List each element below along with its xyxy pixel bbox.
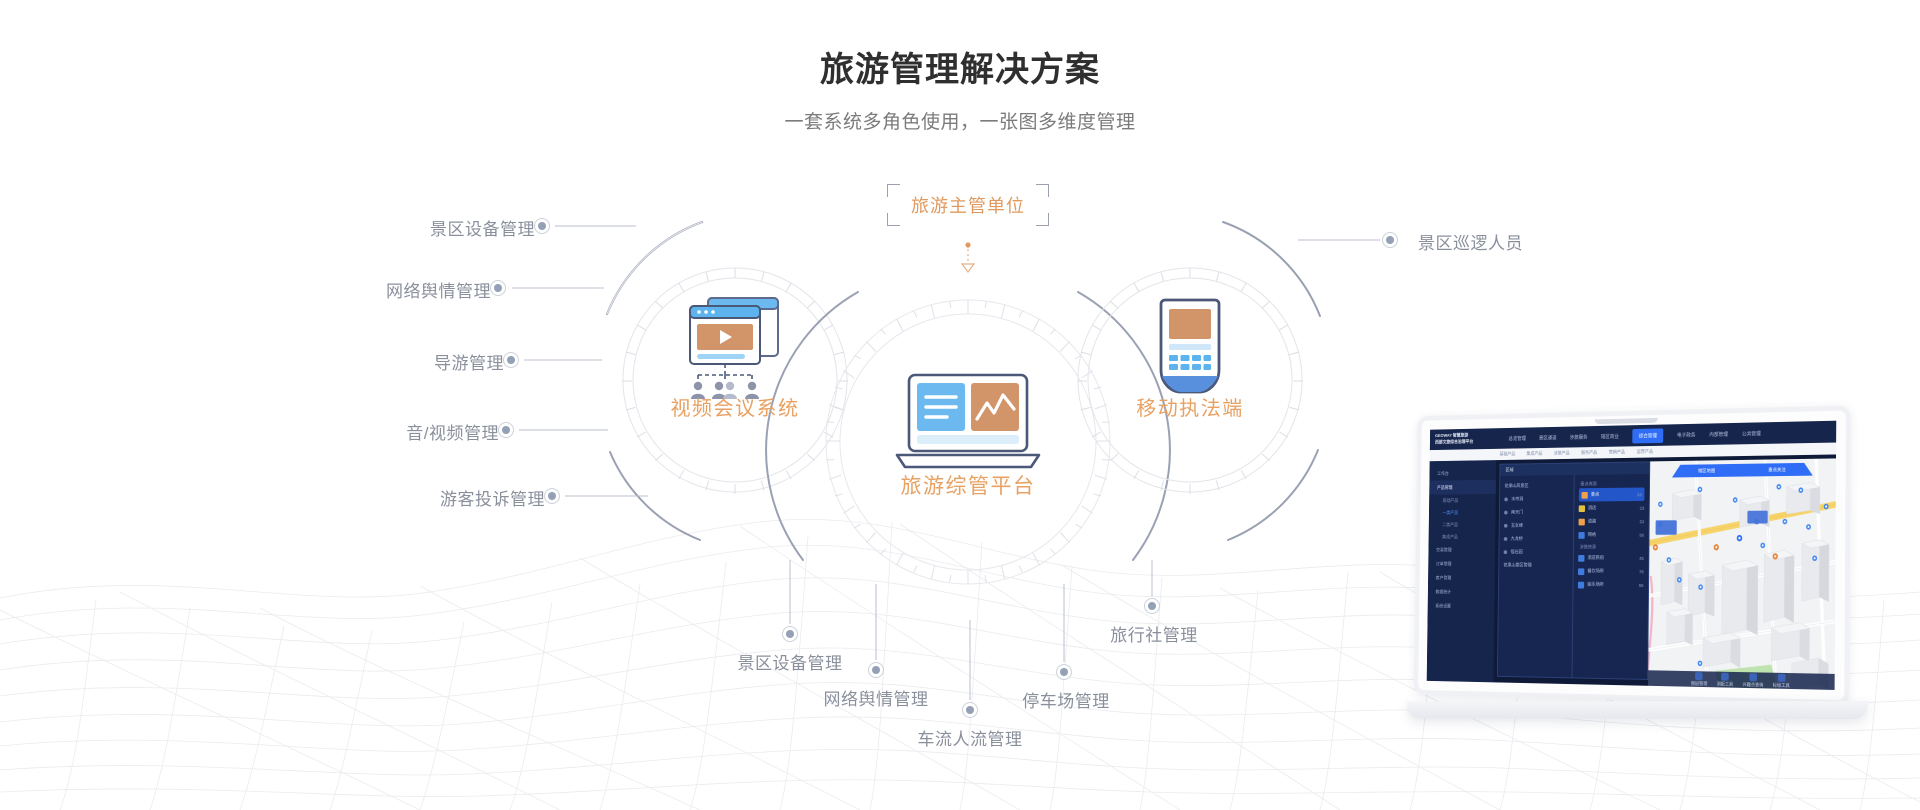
- bottom-label-parking-mgmt[interactable]: 停车场管理: [1006, 687, 1126, 712]
- dashboard-map[interactable]: 辖区地图 重点关注: [1648, 458, 1836, 690]
- menu-item-6[interactable]: 内部管理: [1709, 430, 1728, 437]
- sub-tab-1[interactable]: 集成产品: [1527, 451, 1543, 457]
- map-tool-label-1: 测距工具: [1717, 681, 1734, 687]
- legend2-row-2[interactable]: 娱乐场所 55: [1577, 578, 1643, 592]
- left-label-audio-video-mgmt[interactable]: 音/视频管理: [284, 419, 499, 444]
- right-label-scenic-patrol-staff[interactable]: 景区巡逻人员: [1418, 229, 1523, 254]
- menu-item-3[interactable]: 辖区商业: [1601, 433, 1619, 440]
- node-caption-tourism-platform: 旅游综管平台: [868, 470, 1068, 500]
- tree-label-0: 花果山风景区: [1504, 483, 1528, 489]
- map-info-tag: [1656, 520, 1677, 534]
- sub-tab-0[interactable]: 基础产品: [1500, 451, 1516, 457]
- sidebar-item-3[interactable]: 一类产品: [1429, 506, 1496, 519]
- map-tool-poi-search[interactable]: 兴趣点查询: [1743, 673, 1764, 688]
- corner-bracket-bl: [887, 213, 900, 226]
- node-caption-mobile-enforcement: 移动执法端: [1090, 392, 1290, 421]
- tree-label-1: 水帘洞: [1511, 496, 1523, 502]
- tree-label-2: 南天门: [1511, 510, 1523, 516]
- legend-label-2: 道路: [1588, 519, 1596, 525]
- map-tool-measure[interactable]: 测距工具: [1717, 672, 1734, 687]
- left-label-guide-mgmt[interactable]: 导游管理: [289, 349, 504, 374]
- corner-bracket-tl: [887, 184, 900, 197]
- sub-tab-4[interactable]: 营销产品: [1609, 449, 1625, 455]
- legend-swatch-entertainment: [1577, 581, 1583, 588]
- sidebar-item-6[interactable]: 交易管理: [1428, 543, 1495, 557]
- bullet-icon: [1504, 524, 1508, 528]
- dashboard-region-panel: 区域 花果山风景区 水帘洞: [1497, 461, 1650, 680]
- tree-node-5[interactable]: 怪石园: [1504, 545, 1569, 558]
- menu-item-0[interactable]: 总览管理: [1508, 435, 1525, 442]
- legend-label-1: 酒店: [1588, 505, 1596, 511]
- laptop-base: [1407, 701, 1868, 719]
- map-tool-draw[interactable]: 标绘工具: [1773, 673, 1790, 688]
- legend-swatch-grid: [1578, 532, 1584, 539]
- legend-swatch-scenic: [1581, 491, 1587, 498]
- sub-tab-2[interactable]: 涉旅产品: [1554, 450, 1570, 456]
- left-label-network-sentiment-mgmt[interactable]: 网络舆情管理: [276, 277, 491, 302]
- map-3d-city: [1648, 458, 1836, 690]
- legend2-count-2: 55: [1639, 583, 1644, 588]
- legend2-title: 涉旅资源: [1578, 541, 1644, 551]
- bottom-label-scenic-device-mgmt[interactable]: 景区设备管理: [730, 649, 850, 674]
- tree-node-2[interactable]: 南天门: [1504, 505, 1568, 519]
- region-tree: 花果山风景区 水帘洞 南天门: [1498, 475, 1574, 677]
- node-caption-video-conference: 视频会议系统: [635, 392, 835, 421]
- menu-item-5[interactable]: 电子政务: [1677, 431, 1695, 438]
- bottom-label-traffic-flow-mgmt[interactable]: 车流人流管理: [910, 725, 1030, 750]
- right-leader-lines: [1298, 233, 1398, 248]
- bullet-icon: [1504, 537, 1508, 541]
- map-toolbar-item-1[interactable]: 重点关注: [1768, 467, 1786, 473]
- map-tool-label-0: 图层管理: [1691, 680, 1707, 686]
- laptop-screen[interactable]: GEOWAY 智慧旅游 西部文旅综合治理平台 总览管理 景区通道 涉旅服务 辖区…: [1427, 421, 1837, 690]
- page-header: 旅游管理解决方案 一套系统多角色使用，一张图多维度管理: [0, 0, 1920, 134]
- handheld-terminal-icon: [1161, 300, 1219, 392]
- sidebar-item-10[interactable]: 系统设置: [1428, 599, 1495, 614]
- sidebar-item-9[interactable]: 数据统计: [1428, 585, 1495, 599]
- video-window-icon: [690, 298, 778, 399]
- tree-label-4: 九龙桥: [1511, 536, 1523, 542]
- legend2-label-2: 娱乐场所: [1587, 582, 1604, 588]
- map-tool-layers[interactable]: 图层管理: [1691, 672, 1707, 687]
- dashboard-map-tools: 图层管理 测距工具 兴趣点查询 标绘工具: [1648, 670, 1835, 690]
- map-tool-label-3: 标绘工具: [1773, 682, 1790, 688]
- tree-node-4[interactable]: 九龙桥: [1504, 532, 1569, 545]
- dashboard-app: GEOWAY 智慧旅游 西部文旅综合治理平台 总览管理 景区通道 涉旅服务 辖区…: [1427, 421, 1837, 690]
- corner-bracket-br: [1036, 213, 1049, 226]
- sidebar-item-4[interactable]: 二类产品: [1429, 518, 1496, 531]
- solution-diagram-page: 旅游管理解决方案 一套系统多角色使用，一张图多维度管理: [0, 0, 1920, 810]
- tree-node-0[interactable]: 花果山风景区: [1504, 479, 1568, 493]
- sidebar-item-2[interactable]: 基础产品: [1429, 494, 1496, 507]
- pencil-icon: [1777, 673, 1785, 681]
- search-icon: [1749, 673, 1757, 681]
- menu-item-7[interactable]: 公共管理: [1742, 430, 1761, 437]
- legend-count-0: 23: [1637, 492, 1642, 497]
- bullet-icon: [1504, 498, 1508, 502]
- legend-swatch-hotel: [1578, 505, 1584, 512]
- legend-row-1[interactable]: 酒店 23: [1578, 501, 1644, 515]
- left-label-visitor-complaint-mgmt[interactable]: 游客投诉管理: [330, 485, 545, 510]
- legend2-label-1: 餐饮场所: [1587, 568, 1604, 574]
- sidebar-item-7[interactable]: 订单管理: [1428, 557, 1495, 571]
- laptop-notch: [1595, 418, 1658, 424]
- bullet-icon: [1504, 511, 1508, 515]
- tree-node-6[interactable]: 花果山景区管理: [1503, 559, 1568, 572]
- ruler-icon: [1721, 672, 1729, 680]
- legend2-row-1[interactable]: 餐饮场所 78: [1578, 565, 1644, 579]
- page-title: 旅游管理解决方案: [0, 42, 1920, 91]
- legend2-count-0: 45: [1639, 555, 1644, 560]
- tree-label-5: 怪石园: [1511, 549, 1523, 555]
- menu-item-1[interactable]: 景区通道: [1539, 434, 1557, 441]
- sub-tab-5[interactable]: 运营产品: [1637, 449, 1653, 455]
- legend-swatch-road: [1578, 518, 1584, 525]
- hub-box-tourism-authority[interactable]: 旅游主管单位: [887, 184, 1049, 226]
- sidebar-item-0[interactable]: 工作台: [1429, 466, 1496, 481]
- legend-label-0: 景点: [1591, 492, 1599, 498]
- legend-count-2: 23: [1640, 519, 1645, 524]
- legend-row-2[interactable]: 道路 23: [1578, 514, 1644, 528]
- corner-bracket-tr: [1036, 184, 1049, 197]
- left-label-scenic-device-mgmt[interactable]: 景区设备管理: [320, 215, 535, 240]
- logo-line-2: 西部文旅综合治理平台: [1435, 438, 1502, 446]
- legend-count-1: 23: [1640, 505, 1645, 510]
- legend-label-3: 网格: [1588, 532, 1596, 538]
- page-subtitle: 一套系统多角色使用，一张图多维度管理: [0, 107, 1920, 134]
- bottom-label-travel-agency-mgmt[interactable]: 旅行社管理: [1094, 621, 1214, 646]
- tree-node-3[interactable]: 玉女峰: [1504, 519, 1569, 533]
- legend2-row-0[interactable]: 酒店民宿 45: [1578, 551, 1644, 565]
- legend-row-3[interactable]: 网格 56: [1578, 528, 1644, 542]
- left-leader-lines: [512, 226, 648, 496]
- legend-count-3: 56: [1639, 532, 1644, 537]
- dashboard-sidebar: 工作台 产品管理 基础产品 一类产品 二类产品 集成产品 交易管理 订单管理 客…: [1427, 460, 1496, 682]
- legend2-count-1: 78: [1639, 569, 1644, 574]
- legend2-label-0: 酒店民宿: [1588, 555, 1605, 561]
- map-top-toolbar[interactable]: 辖区地图 重点关注: [1672, 463, 1813, 478]
- dashboard-top-menu: 总览管理 景区通道 涉旅服务 辖区商业 综合管理 电子政务 内部管理 公共管理: [1502, 426, 1761, 446]
- legend-swatch-dining: [1578, 568, 1584, 575]
- hub-connector: [962, 242, 974, 272]
- legend-row-0[interactable]: 景点 23: [1578, 487, 1644, 501]
- bottom-label-network-sentiment-mgmt[interactable]: 网络舆情管理: [816, 685, 936, 710]
- map-tool-label-2: 兴趣点查询: [1743, 681, 1764, 687]
- tree-label-3: 玉女峰: [1511, 523, 1523, 529]
- laptop-body: GEOWAY 智慧旅游 西部文旅综合治理平台 总览管理 景区通道 涉旅服务 辖区…: [1414, 405, 1851, 705]
- resource-legend: 重点资源 景点 23 酒店 23: [1571, 474, 1649, 679]
- laptop-dashboard-icon: [897, 375, 1039, 467]
- menu-item-2[interactable]: 涉旅服务: [1570, 433, 1588, 440]
- sidebar-item-1[interactable]: 产品管理: [1429, 480, 1496, 495]
- tree-label-6: 花果山景区管理: [1503, 563, 1531, 569]
- menu-item-4-active[interactable]: 综合管理: [1632, 428, 1663, 443]
- map-toolbar-item-0[interactable]: 辖区地图: [1698, 468, 1715, 474]
- hub-label: 旅游主管单位: [911, 192, 1025, 218]
- sidebar-item-8[interactable]: 客户管理: [1428, 571, 1495, 585]
- sub-tab-3[interactable]: 服务产品: [1581, 450, 1597, 456]
- legend-swatch-lodging: [1578, 555, 1584, 562]
- sidebar-item-5[interactable]: 集成产品: [1429, 531, 1496, 543]
- tree-node-1[interactable]: 水帘洞: [1504, 492, 1568, 506]
- left-ring-group: [607, 222, 848, 540]
- laptop-mockup: GEOWAY 智慧旅游 西部文旅综合治理平台 总览管理 景区通道 涉旅服务 辖区…: [1360, 405, 1920, 765]
- dashboard-logo: GEOWAY 智慧旅游 西部文旅综合治理平台: [1430, 432, 1502, 446]
- map-info-tag-2: [1747, 511, 1767, 524]
- bullet-icon: [1504, 550, 1508, 554]
- layers-icon: [1695, 672, 1702, 680]
